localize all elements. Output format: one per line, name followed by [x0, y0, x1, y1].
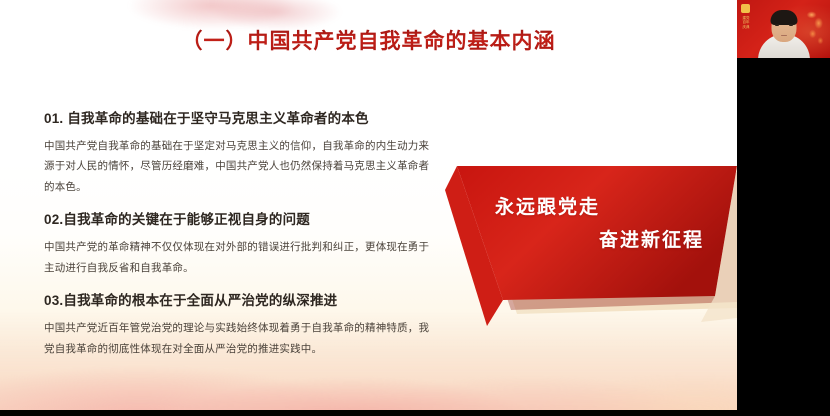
block-heading: 03.自我革命的根本在于全面从严治党的纵深推进 [44, 289, 436, 309]
block-heading: 02.自我革命的关键在于能够正视自身的问题 [44, 208, 436, 228]
presentation-viewer: （一）中国共产党自我革命的基本内涵 01. 自我革命的基础在于坚守马克思主义革命… [0, 0, 830, 416]
banner-text: 永远跟党走 奋进新征程 [493, 192, 708, 252]
webcam-presenter [737, 0, 830, 58]
content-block-02: 02.自我革命的关键在于能够正视自身的问题 中国共产党的革命精神不仅仅体现在对外… [44, 208, 436, 278]
banner-line-2: 奋进新征程 [493, 225, 708, 252]
presenter-eye-right [789, 24, 793, 26]
slide-canvas: （一）中国共产党自我革命的基本内涵 01. 自我革命的基础在于坚守马克思主义革命… [0, 0, 737, 410]
slide-title: （一）中国共产党自我革命的基本内涵 [0, 25, 737, 55]
block-body: 中国共产党的革命精神不仅仅体现在对外部的错误进行批判和纠正，更体现在勇于主动进行… [44, 237, 436, 278]
block-body: 中国共产党自我革命的基础在于坚定对马克思主义的信仰，自我革命的内生动力来源于对人… [44, 136, 436, 197]
slide-content: 01. 自我革命的基础在于坚守马克思主义革命者的本色 中国共产党自我革命的基础在… [44, 107, 436, 359]
banner-line-1: 永远跟党走 [493, 192, 708, 219]
red-banner-graphic: 永远跟党走 奋进新征程 [415, 150, 737, 335]
webcam-video-overlay[interactable]: 建党百年庆典 [737, 0, 830, 58]
block-body: 中国共产党近百年管党治党的理论与实践始终体现着勇于自我革命的精神特质，我党自我革… [44, 318, 436, 359]
content-block-01: 01. 自我革命的基础在于坚守马克思主义革命者的本色 中国共产党自我革命的基础在… [44, 107, 436, 197]
letterbox-right [737, 58, 830, 416]
presenter-eye-left [775, 24, 779, 26]
block-heading: 01. 自我革命的基础在于坚守马克思主义革命者的本色 [44, 107, 436, 127]
letterbox-bottom [0, 410, 737, 416]
content-block-03: 03.自我革命的根本在于全面从严治党的纵深推进 中国共产党近百年管党治党的理论与… [44, 289, 436, 359]
presenter-hair [770, 10, 797, 25]
